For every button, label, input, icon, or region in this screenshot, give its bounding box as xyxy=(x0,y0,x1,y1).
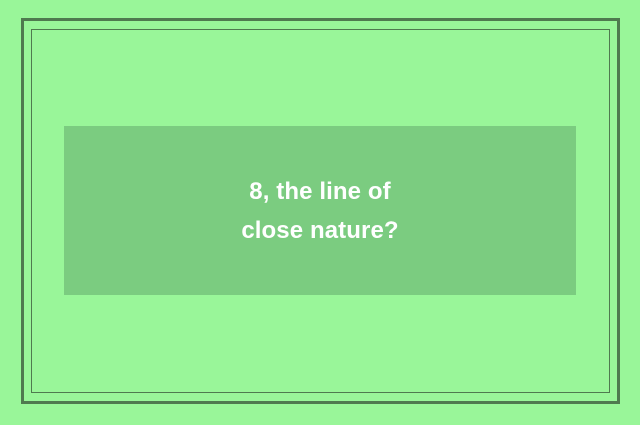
slide-canvas: 8, the line of close nature? xyxy=(0,0,640,425)
caption-line-2: close nature? xyxy=(241,211,398,250)
caption-panel: 8, the line of close nature? xyxy=(64,126,576,295)
caption-line-1: 8, the line of xyxy=(249,172,390,211)
